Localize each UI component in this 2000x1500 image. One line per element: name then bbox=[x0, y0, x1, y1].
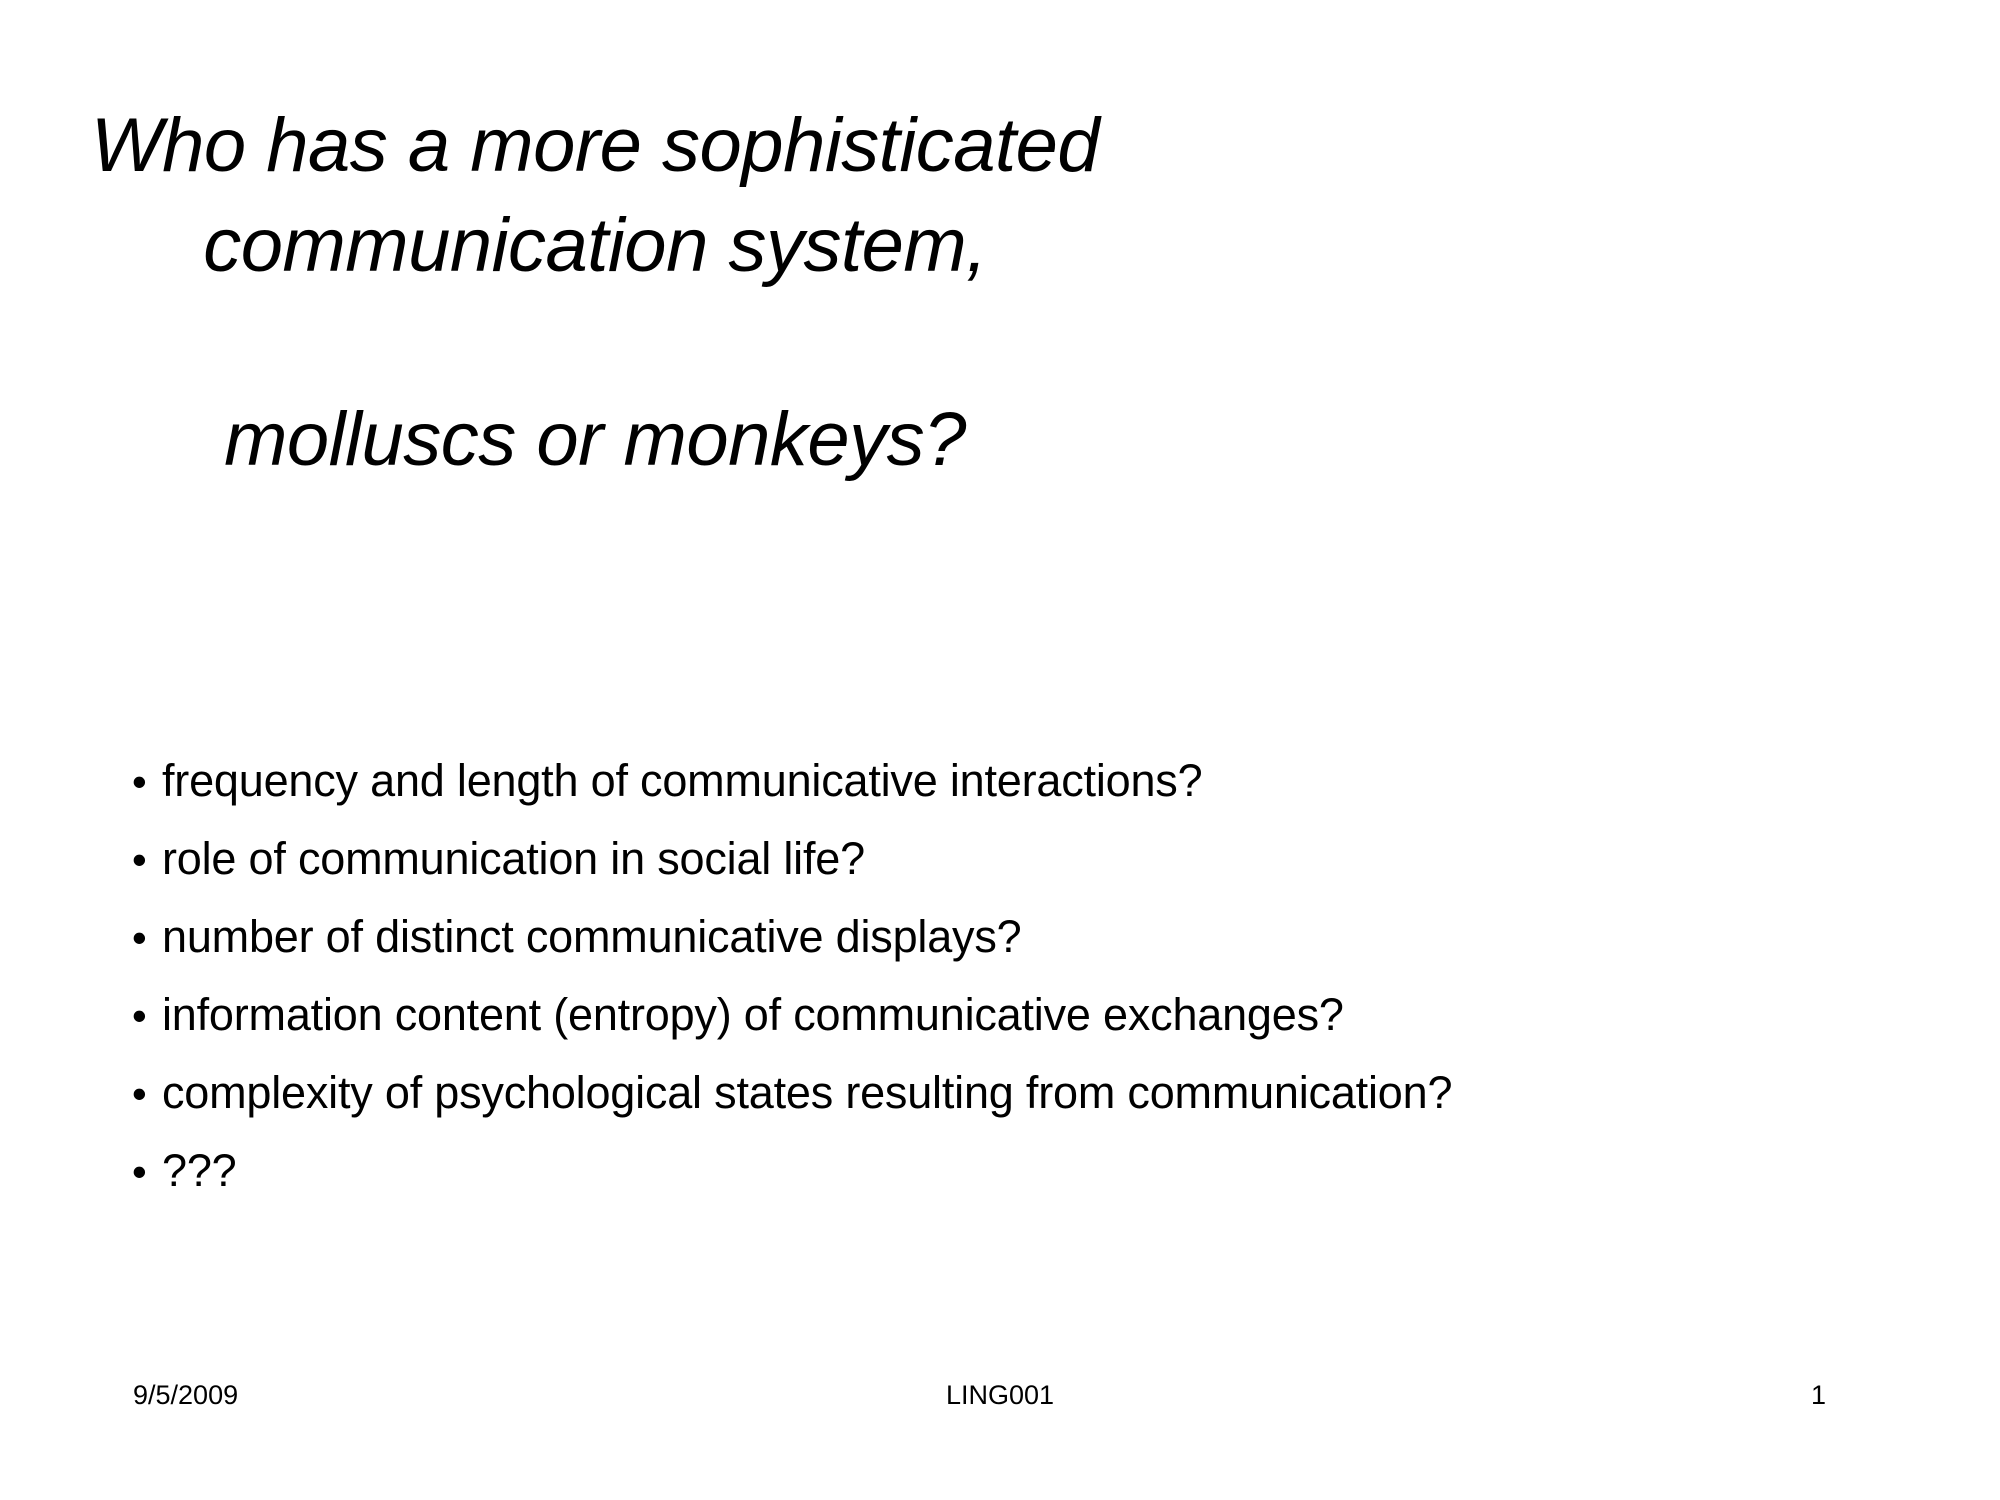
list-item: • role of communication in social life? bbox=[132, 830, 1932, 908]
bullet-dot-icon: • bbox=[132, 1143, 162, 1201]
list-item: • number of distinct communicative displ… bbox=[132, 908, 1932, 986]
bullet-dot-icon: • bbox=[132, 831, 162, 889]
list-item-label: complexity of psychological states resul… bbox=[162, 1064, 1452, 1122]
bullet-dot-icon: • bbox=[132, 909, 162, 967]
list-item: • ??? bbox=[132, 1142, 1932, 1220]
list-item: • complexity of psychological states res… bbox=[132, 1064, 1932, 1142]
list-item: • information content (entropy) of commu… bbox=[132, 986, 1932, 1064]
list-item-label: frequency and length of communicative in… bbox=[162, 752, 1202, 810]
footer-course-code: LING001 bbox=[700, 1378, 1300, 1412]
bullet-dot-icon: • bbox=[132, 987, 162, 1045]
list-item: • frequency and length of communicative … bbox=[132, 752, 1932, 830]
title-line-2: communication system, bbox=[80, 196, 1110, 296]
list-item-label: information content (entropy) of communi… bbox=[162, 986, 1344, 1044]
list-item-label: number of distinct communicative display… bbox=[162, 908, 1021, 966]
title-line-3: molluscs or monkeys? bbox=[80, 390, 1110, 490]
list-item-label: role of communication in social life? bbox=[162, 830, 865, 888]
bullet-list: • frequency and length of communicative … bbox=[132, 752, 1932, 1220]
slide-footer: 9/5/2009 LING001 1 bbox=[0, 1378, 2000, 1418]
title-line-1: Who has a more sophisticated bbox=[80, 96, 1110, 196]
bullet-dot-icon: • bbox=[132, 1065, 162, 1123]
slide-canvas: Who has a more sophisticated communicati… bbox=[0, 0, 2000, 1500]
footer-date: 9/5/2009 bbox=[133, 1378, 238, 1412]
slide-title: Who has a more sophisticated communicati… bbox=[80, 96, 1110, 490]
footer-page-number: 1 bbox=[1700, 1378, 1826, 1412]
bullet-dot-icon: • bbox=[132, 753, 162, 811]
list-item-label: ??? bbox=[162, 1142, 236, 1200]
